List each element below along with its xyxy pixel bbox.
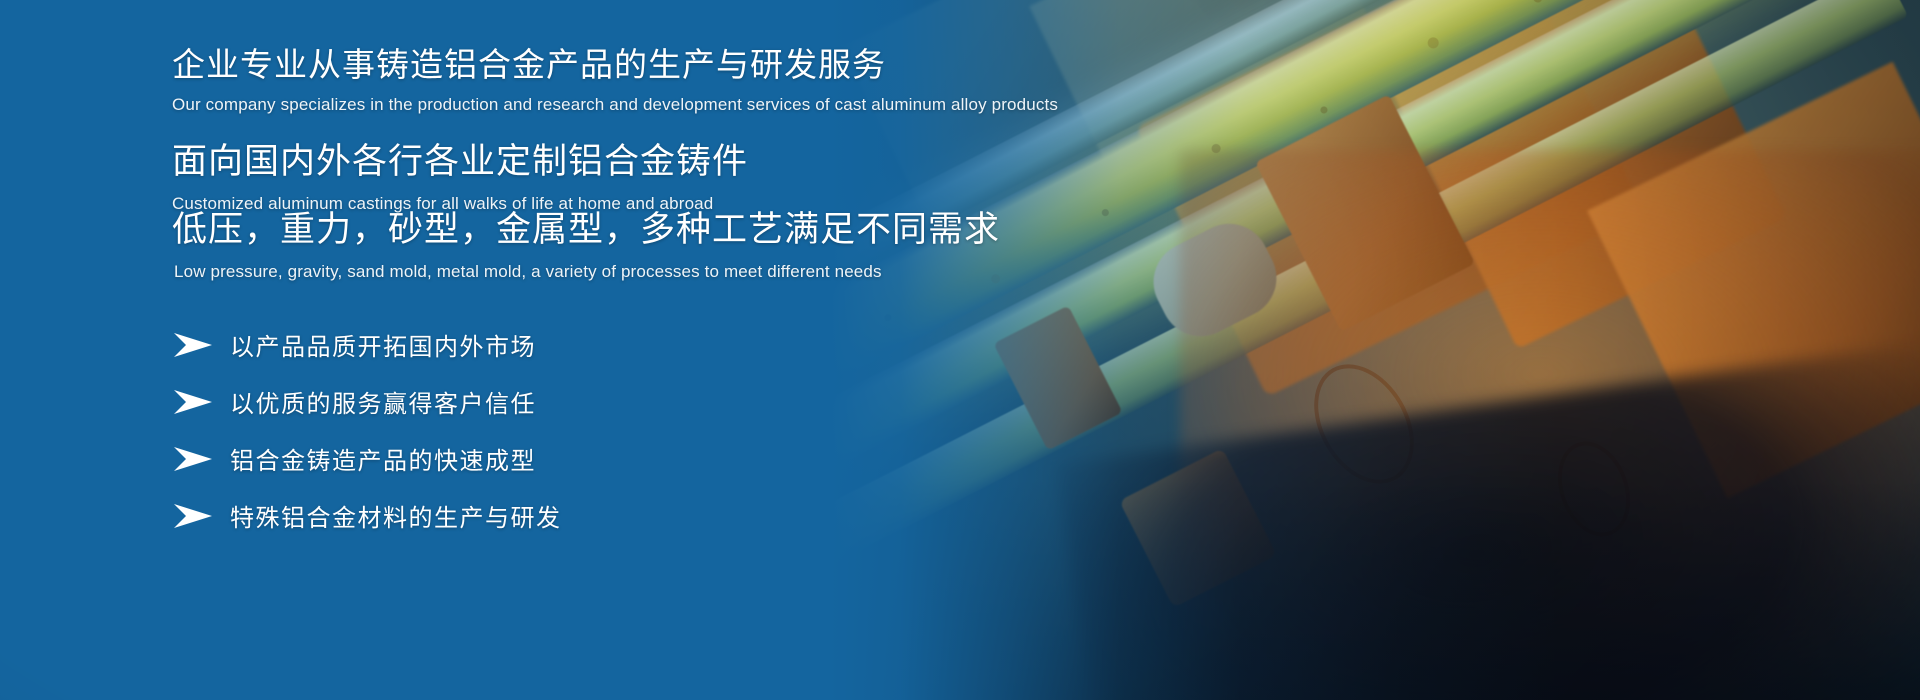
headline-3-en: Low pressure, gravity, sand mold, metal … (174, 259, 1000, 285)
headline-block-2: 面向国内外各行各业定制铝合金铸件 Customized aluminum cas… (172, 140, 748, 216)
arrow-right-icon (172, 389, 214, 415)
feature-list: 以产品品质开拓国内外市场 以优质的服务赢得客户信任 铝合金铸造产品的快速成型 特… (172, 316, 562, 544)
list-item-label: 以产品品质开拓国内外市场 (230, 327, 536, 362)
banner-content: 企业专业从事铸造铝合金产品的生产与研发服务 Our company specia… (172, 0, 1372, 700)
arrow-right-icon (172, 332, 214, 358)
list-item-label: 铝合金铸造产品的快速成型 (230, 441, 536, 476)
list-item-label: 特殊铝合金材料的生产与研发 (230, 498, 562, 533)
list-item: 以产品品质开拓国内外市场 (172, 316, 562, 373)
headline-block-1: 企业专业从事铸造铝合金产品的生产与研发服务 Our company specia… (172, 44, 1058, 118)
list-item-label: 以优质的服务赢得客户信任 (230, 384, 536, 419)
list-item: 特殊铝合金材料的生产与研发 (172, 487, 562, 544)
headline-3-cn: 低压，重力，砂型，金属型，多种工艺满足不同需求 (172, 208, 1000, 253)
list-item: 以优质的服务赢得客户信任 (172, 373, 562, 430)
arrow-right-icon (172, 503, 214, 529)
headline-1-cn: 企业专业从事铸造铝合金产品的生产与研发服务 (172, 44, 1058, 86)
headline-2-cn: 面向国内外各行各业定制铝合金铸件 (172, 140, 748, 185)
hero-banner: 企业专业从事铸造铝合金产品的生产与研发服务 Our company specia… (0, 0, 1920, 700)
arrow-right-icon (172, 446, 214, 472)
headline-1-en: Our company specializes in the productio… (172, 92, 1058, 118)
list-item: 铝合金铸造产品的快速成型 (172, 430, 562, 487)
headline-block-3: 低压，重力，砂型，金属型，多种工艺满足不同需求 Low pressure, gr… (172, 208, 1000, 284)
